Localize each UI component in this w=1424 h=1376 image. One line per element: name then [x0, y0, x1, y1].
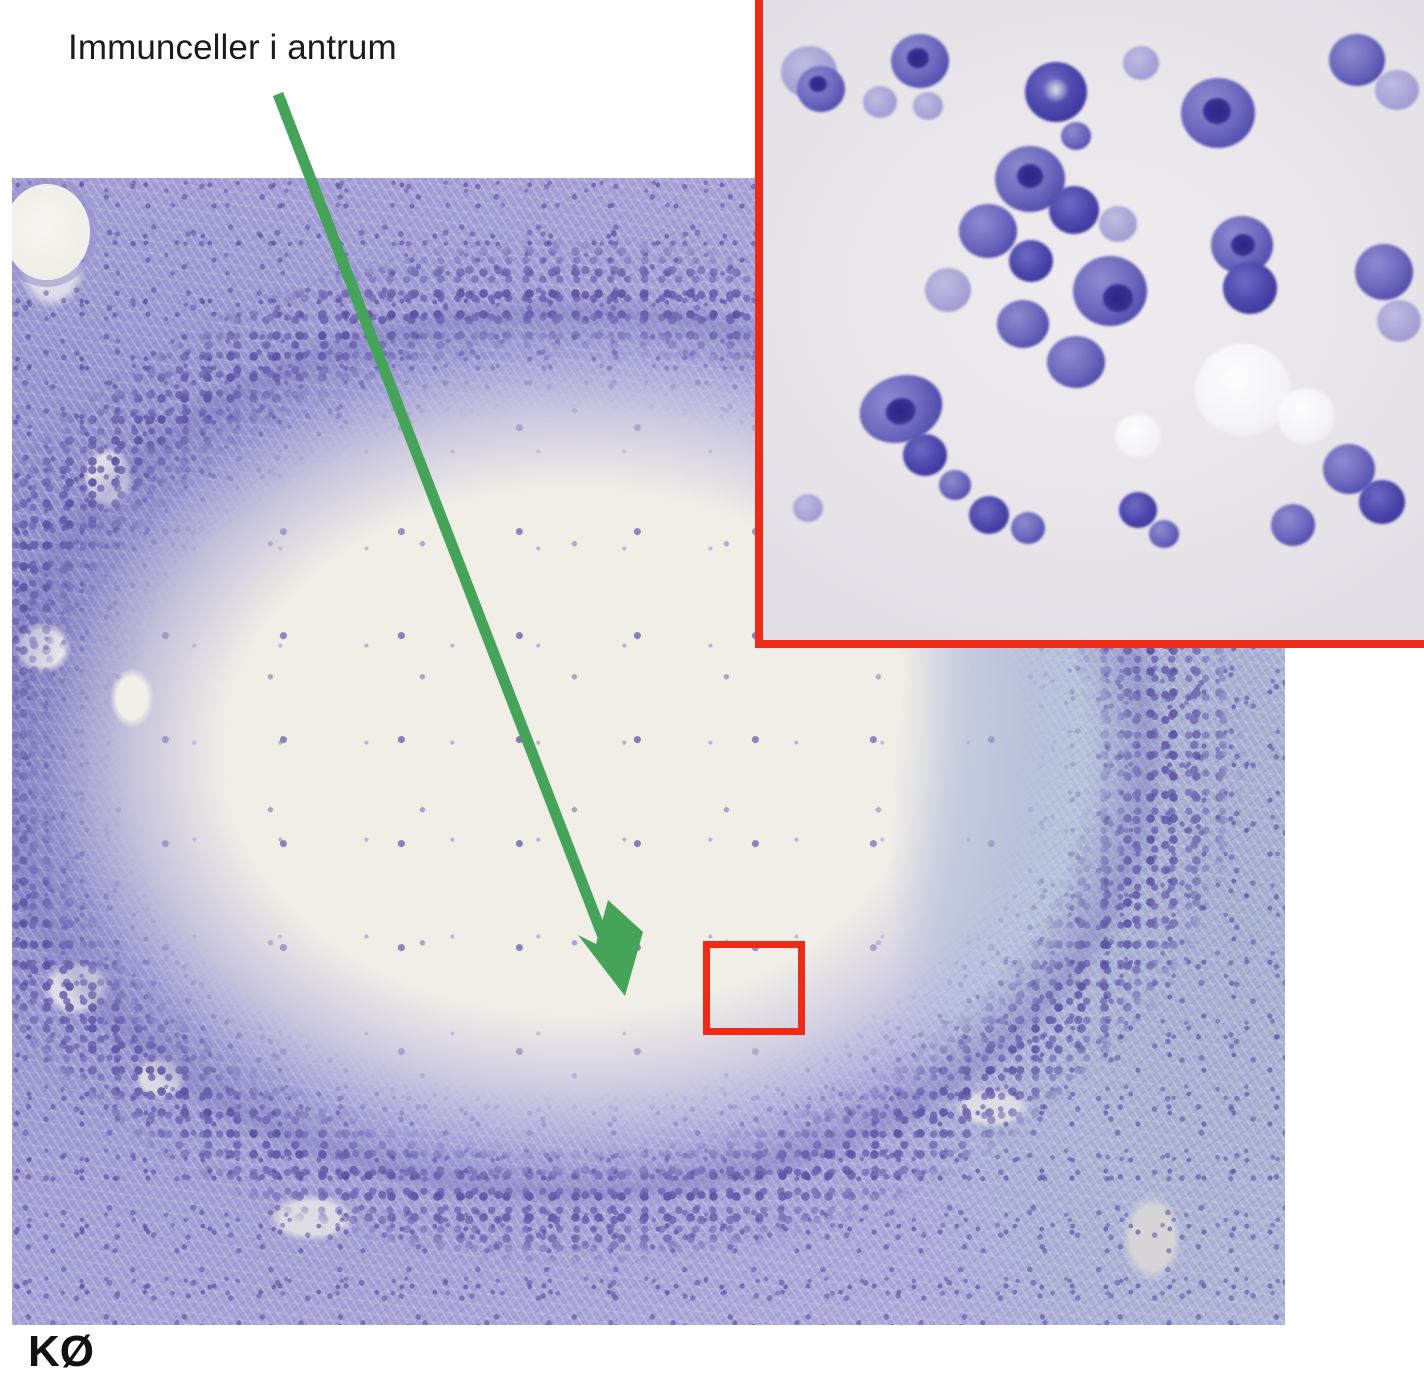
immune-cell — [891, 34, 949, 88]
immune-cell — [1329, 34, 1385, 86]
immune-cell — [903, 434, 947, 476]
immune-cell — [1359, 480, 1405, 524]
cell-nucleolus — [1017, 164, 1043, 188]
immune-cell — [959, 204, 1017, 258]
magnified-immune-cells-inset — [755, 0, 1424, 648]
immune-cell — [1123, 46, 1159, 80]
immune-cell — [1271, 504, 1315, 546]
immune-cell — [1181, 78, 1255, 148]
cell-nucleolus — [882, 394, 919, 428]
immune-cell — [1377, 300, 1421, 342]
cell-nucleolus — [1203, 98, 1231, 124]
immune-cell — [1011, 512, 1045, 544]
cell-nucleolus — [809, 76, 827, 92]
cell-nucleolus — [1103, 284, 1133, 312]
immune-cell — [1073, 256, 1147, 326]
immune-cell — [1355, 244, 1413, 300]
cell-nucleolus — [1043, 78, 1069, 102]
immune-cell — [1149, 520, 1179, 548]
immune-cell — [793, 494, 823, 522]
immune-cell — [925, 268, 971, 312]
immune-cell — [1009, 240, 1053, 282]
cell-nucleolus — [907, 48, 929, 68]
bottom-caption: KØ — [28, 1330, 94, 1374]
immune-cell — [1025, 62, 1087, 122]
vacuole — [1195, 344, 1291, 436]
inset-cell-cluster — [763, 0, 1424, 640]
immune-cell — [969, 496, 1009, 534]
immune-cell — [863, 86, 897, 118]
vacuole — [1277, 388, 1335, 444]
immune-cell — [1375, 70, 1419, 110]
page-title: Immunceller i antrum — [68, 28, 397, 68]
immune-cell — [1223, 262, 1277, 314]
immune-cell — [1119, 492, 1157, 528]
immune-cell — [939, 470, 971, 500]
vacuole — [1115, 414, 1161, 458]
region-of-interest-box — [703, 941, 805, 1035]
immune-cell — [1049, 186, 1099, 234]
immune-cell — [913, 92, 943, 120]
immune-cell — [797, 66, 845, 112]
cell-nucleolus — [1231, 234, 1255, 256]
immune-cell — [1047, 336, 1105, 388]
immune-cell — [997, 300, 1049, 348]
immune-cell — [1061, 122, 1091, 150]
immune-cell — [1099, 206, 1137, 242]
